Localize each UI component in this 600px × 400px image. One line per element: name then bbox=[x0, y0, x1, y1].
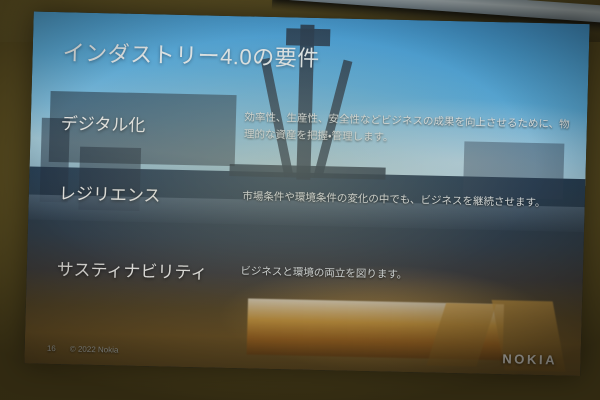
requirement-row: デジタル化 効率性、生産性、安全性などビジネスの成果を向上させるために、物理的な… bbox=[30, 105, 587, 150]
requirement-row: レジリエンス 市場条件や環境条件の変化の中でも、ビジネスを継続させます。 bbox=[29, 179, 586, 217]
requirement-label: デジタル化 bbox=[60, 109, 244, 138]
requirement-description: ビジネスと環境の両立を図ります。 bbox=[240, 264, 583, 288]
copyright-notice: © 2022 Nokia bbox=[70, 345, 119, 355]
projection-screen: インダストリー4.0の要件 デジタル化 効率性、生産性、安全性などビジネスの成果… bbox=[24, 12, 589, 376]
requirement-row: サスティナビリティ ビジネスと環境の両立を図ります。 bbox=[27, 254, 584, 292]
requirement-description: 市場条件や環境条件の変化の中でも、ビジネスを継続させます。 bbox=[242, 188, 585, 212]
slide-footer: 16 © 2022 Nokia NOKIA bbox=[24, 341, 580, 369]
requirement-label: レジリエンス bbox=[59, 179, 243, 208]
slide-content: インダストリー4.0の要件 デジタル化 効率性、生産性、安全性などビジネスの成果… bbox=[24, 12, 589, 376]
page-title: インダストリー4.0の要件 bbox=[62, 35, 320, 73]
page-number: 16 bbox=[47, 344, 56, 353]
nokia-logo: NOKIA bbox=[502, 352, 557, 368]
requirement-label: サスティナビリティ bbox=[57, 255, 241, 284]
requirement-description: 効率性、生産性、安全性などビジネスの成果を向上させるために、物理的な資産を把握・… bbox=[244, 110, 587, 150]
slide: インダストリー4.0の要件 デジタル化 効率性、生産性、安全性などビジネスの成果… bbox=[24, 12, 589, 376]
photograph-of-presentation-screen: インダストリー4.0の要件 デジタル化 効率性、生産性、安全性などビジネスの成果… bbox=[0, 0, 600, 400]
